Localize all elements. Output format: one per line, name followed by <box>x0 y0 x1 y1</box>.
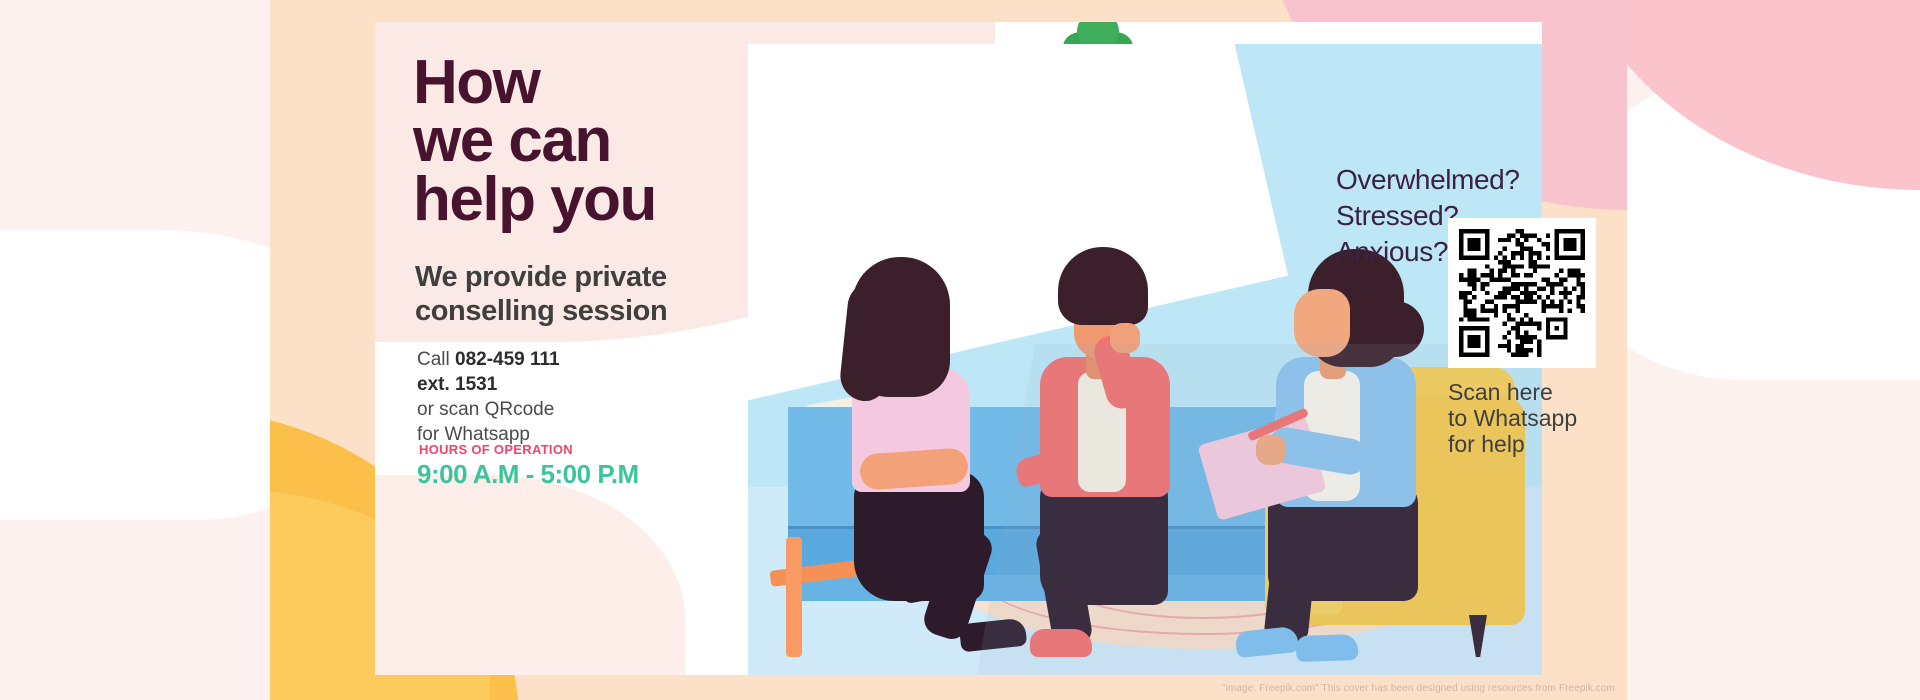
client-man-hair <box>1058 247 1148 325</box>
panel-blush-bottom <box>375 475 685 675</box>
content-panel: How we can help you We provide private c… <box>375 22 1542 675</box>
question-line-1: Overwhelmed? <box>1336 162 1542 198</box>
hours-label: HOURS OF OPERATION <box>419 442 573 457</box>
phone-number[interactable]: 082-459 111 <box>455 349 560 370</box>
credit-text: "image: Freepik.com" This cover has been… <box>1222 683 1615 694</box>
scan-line-2: to Whatsapp <box>1448 406 1608 432</box>
poster-card: How we can help you We provide private c… <box>270 0 1627 700</box>
client-woman-hair <box>852 257 950 397</box>
sofa-leg <box>786 537 802 657</box>
poster-stage: How we can help you We provide private c… <box>0 0 1920 700</box>
qr-block: Scan here to Whatsapp for help <box>1448 218 1608 457</box>
scan-line-1: Scan here <box>1448 380 1608 406</box>
call-prefix: Call <box>417 349 455 370</box>
scan-instructions: Scan here to Whatsapp for help <box>1448 380 1608 457</box>
scan-instruction-line-1: or scan QRcode <box>417 397 747 422</box>
qr-canvas <box>1459 229 1585 357</box>
counselling-illustration: Overwhelmed? Stressed? Anxious? <box>748 44 1542 675</box>
hours-value: 9:00 A.M - 5:00 P.M <box>417 459 639 490</box>
call-line: Call 082-459 111 <box>417 347 747 372</box>
qr-code-icon[interactable] <box>1448 218 1596 368</box>
contact-block: Call 082-459 111 ext. 1531 or scan QRcod… <box>417 347 747 447</box>
client-woman-arm <box>859 447 969 490</box>
scan-line-3: for help <box>1448 432 1608 458</box>
phone-extension: ext. 1531 <box>417 372 747 397</box>
